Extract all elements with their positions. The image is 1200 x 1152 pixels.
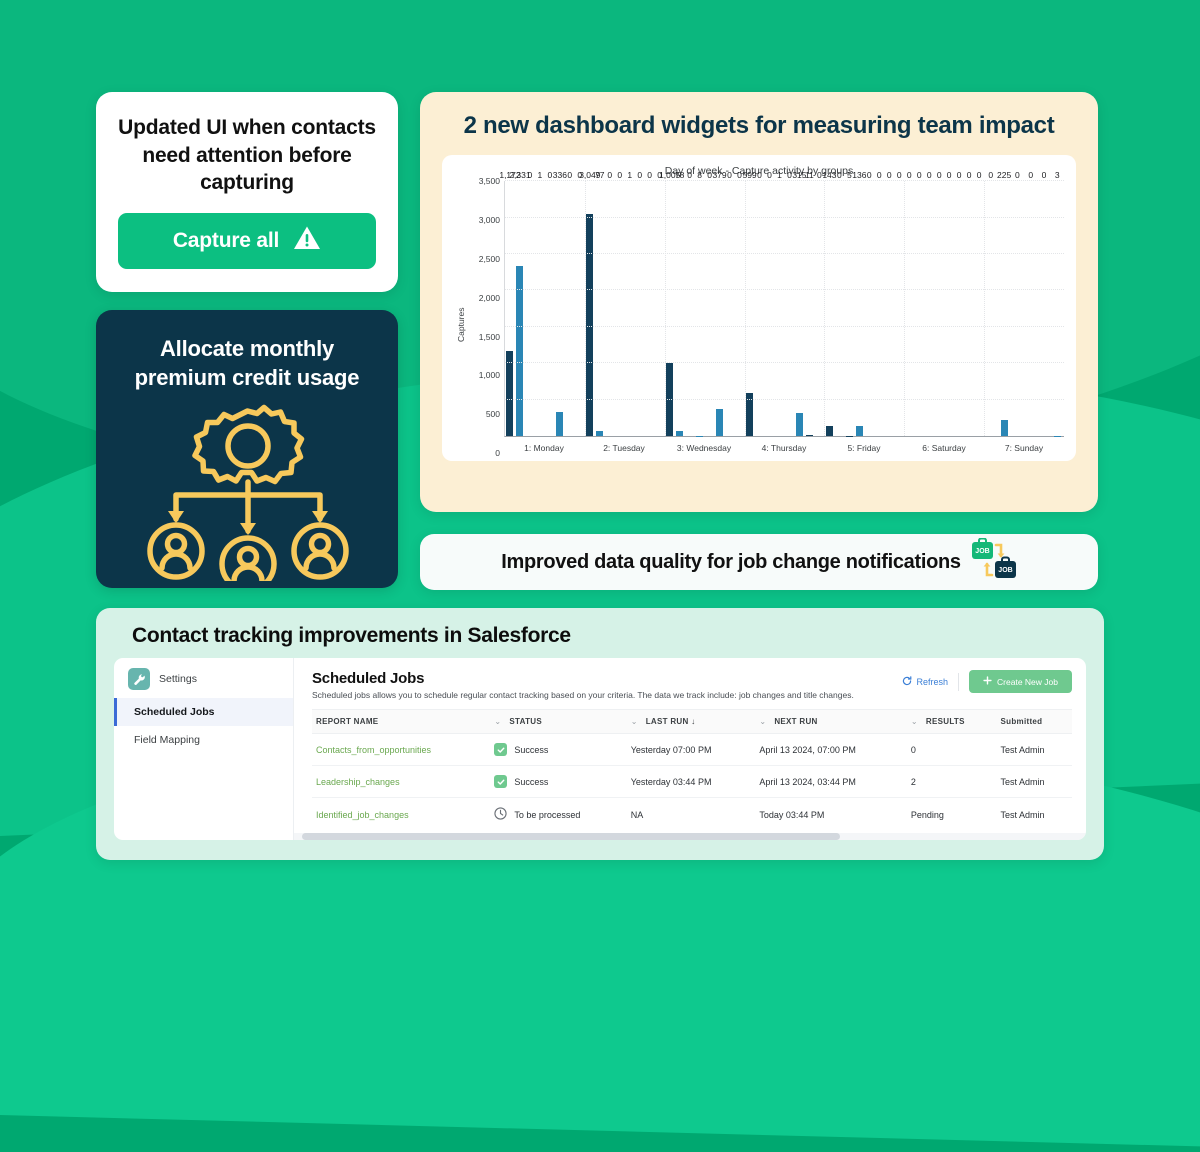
page-subtitle: Scheduled jobs allows you to schedule re… <box>312 690 902 700</box>
table-row[interactable]: Contacts_from_opportunitiesSuccessYester… <box>312 734 1072 766</box>
status-badge: Success <box>494 743 622 756</box>
status-badge: To be processed <box>494 807 622 822</box>
report-name-link[interactable]: Leadership_changes <box>316 777 400 787</box>
wrench-icon <box>128 668 150 690</box>
chart-bar-label: 0 <box>1028 170 1033 180</box>
chart-bar-label: 0 <box>528 170 533 180</box>
chart-gridline <box>505 180 1064 181</box>
chart-bar-label: 0 <box>817 170 822 180</box>
chart-bar-label: 0 <box>967 170 972 180</box>
sidebar-settings-label: Settings <box>159 673 197 685</box>
chart-bar-label: 3 <box>1055 170 1060 180</box>
chart-bar-label: 0 <box>567 170 572 180</box>
header-actions: Refresh Create New Job <box>902 670 1072 693</box>
chart-x-tick-label: 7: Sunday <box>984 443 1064 453</box>
chart-bar-label: 1 <box>538 170 543 180</box>
chart-bar-label: 0 <box>907 170 912 180</box>
chart-bar-label: 78 <box>675 170 684 180</box>
column-header-status[interactable]: ⌄STATUS <box>490 710 626 734</box>
check-square-icon <box>494 775 507 788</box>
chart-gridline <box>505 253 1064 254</box>
salesforce-main: Scheduled Jobs Scheduled jobs allows you… <box>294 658 1086 840</box>
chart-bar[interactable]: 336 <box>556 412 563 436</box>
cell-results: Pending <box>907 798 997 832</box>
chart-y-tick: 3,000 <box>479 215 500 225</box>
status-label: Success <box>514 777 548 787</box>
cell-results[interactable]: 2 <box>907 766 997 798</box>
chart-bar-label: 5 <box>847 170 852 180</box>
warning-triangle-icon <box>293 225 321 257</box>
chart-bar-label: 0 <box>887 170 892 180</box>
chart-bar-label: 599 <box>742 170 756 180</box>
cell-next-run: April 13 2024, 07:00 PM <box>755 734 907 766</box>
chart-bar-label: 11 <box>805 170 814 180</box>
chart-bar-label: 0 <box>867 170 872 180</box>
report-name-link[interactable]: Identified_job_changes <box>316 810 409 820</box>
chart-bar-label: 0 <box>1015 170 1020 180</box>
card-allocate-headline: Allocate monthly premium credit usage <box>114 334 380 393</box>
cell-status: Success <box>490 766 626 798</box>
chart-bar-label: 0 <box>617 170 622 180</box>
chart-bar-label: 77 <box>595 170 604 180</box>
chart-y-tick: 3,500 <box>479 176 500 186</box>
chart-bar[interactable]: 78 <box>676 431 683 437</box>
chart-bar-label: 0 <box>637 170 642 180</box>
cell-status: To be processed <box>490 798 626 832</box>
chart-gridline <box>505 399 1064 400</box>
chevron-down-icon: ⌄ <box>759 717 766 726</box>
chart-bar-label: 0 <box>687 170 692 180</box>
check-square-icon <box>494 743 507 756</box>
status-label: Success <box>514 745 548 755</box>
column-header-submitted: Submitted <box>997 710 1072 734</box>
chart-y-tick: 500 <box>486 409 500 419</box>
chart-bar-label: 0 <box>607 170 612 180</box>
chart-bar-label: 143 <box>822 170 836 180</box>
sidebar-settings-header: Settings <box>114 668 293 698</box>
chart-bar[interactable]: 379 <box>716 409 723 437</box>
card-allocate-credits: Allocate monthly premium credit usage <box>96 310 398 588</box>
chart-bar-label: 0 <box>737 170 742 180</box>
chart-x-tick-label: 1: Monday <box>504 443 584 453</box>
table-body: Contacts_from_opportunitiesSuccessYester… <box>312 734 1072 832</box>
card-job-change-banner: Improved data quality for job change not… <box>420 534 1098 590</box>
column-header-results[interactable]: ⌄RESULTS <box>907 710 997 734</box>
create-new-job-label: Create New Job <box>997 677 1058 687</box>
chart-y-tick: 1,500 <box>479 332 500 342</box>
cell-status: Success <box>490 734 626 766</box>
sidebar-nav: Scheduled JobsField Mapping <box>114 698 293 754</box>
cell-last-run: Yesterday 07:00 PM <box>627 734 756 766</box>
cell-report-name: Contacts_from_opportunities <box>312 734 490 766</box>
header-divider <box>958 673 959 691</box>
card-dashboard-widgets-headline: 2 new dashboard widgets for measuring te… <box>442 110 1076 141</box>
sidebar-item-scheduled-jobs[interactable]: Scheduled Jobs <box>114 698 293 726</box>
chart-x-tick-label: 4: Thursday <box>744 443 824 453</box>
card-salesforce-title: Contact tracking improvements in Salesfo… <box>132 624 1086 648</box>
chart-x-tick-label: 6: Saturday <box>904 443 984 453</box>
chart-bar-label: 0 <box>897 170 902 180</box>
salesforce-sidebar: Settings Scheduled JobsField Mapping <box>114 658 294 840</box>
chart-gridline <box>505 326 1064 327</box>
chart-bar-label: 0 <box>937 170 942 180</box>
capture-activity-chart: Day of week - Capture activity by groups… <box>442 155 1076 461</box>
chart-bar[interactable]: 2,331 <box>516 266 523 436</box>
chart-bar[interactable]: 8 <box>696 436 703 437</box>
chart-y-tick: 2,000 <box>479 293 500 303</box>
status-label: To be processed <box>514 810 580 820</box>
sidebar-item-field-mapping[interactable]: Field Mapping <box>114 726 293 754</box>
cell-last-run: NA <box>627 798 756 832</box>
status-badge: Success <box>494 775 622 788</box>
cell-submitted: Test Admin <box>997 734 1072 766</box>
chart-gridline <box>505 289 1064 290</box>
chart-plot-area: 1,1722,331010336003,049770010001,0057808… <box>504 181 1064 453</box>
table-row[interactable]: Leadership_changesSuccessYesterday 03:44… <box>312 766 1072 798</box>
chart-bar-label: 0 <box>727 170 732 180</box>
chart-bar[interactable]: 225 <box>1001 420 1008 436</box>
cell-submitted: Test Admin <box>997 766 1072 798</box>
card-updated-ui-headline: Updated UI when contacts need attention … <box>116 114 378 197</box>
chart-y-axis-label: Captures <box>454 181 468 453</box>
scheduled-jobs-header-text: Scheduled Jobs Scheduled jobs allows you… <box>312 670 902 700</box>
chevron-down-icon: ⌄ <box>631 717 638 726</box>
svg-text:JOB: JOB <box>975 548 989 555</box>
chevron-down-icon: ⌄ <box>911 717 918 726</box>
chart-bar-label: 0 <box>927 170 932 180</box>
chart-bar-label: 0 <box>1042 170 1047 180</box>
card-salesforce: Contact tracking improvements in Salesfo… <box>96 608 1104 860</box>
report-name-link[interactable]: Contacts_from_opportunities <box>316 745 431 755</box>
chart-body: Captures 05001,0001,5002,0002,5003,0003,… <box>454 181 1064 453</box>
table-row[interactable]: Identified_job_changesTo be processedNAT… <box>312 798 1072 832</box>
salesforce-app-window: Settings Scheduled JobsField Mapping Sch… <box>114 658 1086 840</box>
chart-bar-label: 8 <box>697 170 702 180</box>
chart-bar-label: 0 <box>757 170 762 180</box>
column-header-next-run[interactable]: ⌄NEXT RUN <box>755 710 907 734</box>
plus-icon <box>983 676 992 687</box>
stage: Updated UI when contacts need attention … <box>0 0 1200 960</box>
svg-text:JOB: JOB <box>998 567 1012 574</box>
chart-bar-label: 1 <box>627 170 632 180</box>
scrollbar-thumb[interactable] <box>302 833 841 840</box>
cell-results: 0 <box>907 734 997 766</box>
chart-x-tick-label: 2: Tuesday <box>584 443 664 453</box>
horizontal-scrollbar[interactable] <box>294 833 1086 840</box>
table-head: REPORT NAME⌄STATUS⌄LAST RUN ↓⌄NEXT RUN⌄R… <box>312 710 1072 734</box>
chart-y-tick: 2,500 <box>479 254 500 264</box>
refresh-label: Refresh <box>917 677 949 687</box>
chart-bar[interactable]: 11 <box>806 435 813 436</box>
chart-gridline <box>505 362 1064 363</box>
create-new-job-button[interactable]: Create New Job <box>969 670 1072 693</box>
chart-x-tick-label: 5: Friday <box>824 443 904 453</box>
cell-submitted: Test Admin <box>997 798 1072 832</box>
chart-gridline <box>505 217 1064 218</box>
chart-bar-label: 336 <box>553 170 567 180</box>
cell-last-run: Yesterday 03:44 PM <box>627 766 756 798</box>
chart-x-tick-label: 3: Wednesday <box>664 443 744 453</box>
refresh-icon <box>902 676 912 688</box>
chart-x-tick-labels: 1: Monday2: Tuesday3: Wednesday4: Thursd… <box>504 443 1064 453</box>
gear-distributes-to-people-icon <box>140 403 355 586</box>
chart-bar-label: 0 <box>767 170 772 180</box>
capture-all-button[interactable]: Capture all <box>118 213 376 269</box>
cell-report-name: Identified_job_changes <box>312 798 490 832</box>
chart-bar[interactable]: 143 <box>826 426 833 436</box>
column-header-report-name: REPORT NAME <box>312 710 490 734</box>
chart-bar[interactable]: 1,172 <box>506 351 513 436</box>
cell-next-run: Today 03:44 PM <box>755 798 907 832</box>
clock-icon <box>494 807 507 822</box>
refresh-button[interactable]: Refresh <box>902 676 949 688</box>
chart-bar-label: 0 <box>837 170 842 180</box>
chart-bar-label: 0 <box>988 170 993 180</box>
chart-bar-label: 0 <box>877 170 882 180</box>
card-dashboard-widgets: 2 new dashboard widgets for measuring te… <box>420 92 1098 512</box>
chart-y-ticks: 05001,0001,5002,0002,5003,0003,500 <box>468 181 504 453</box>
chart-bar[interactable]: 77 <box>596 431 603 437</box>
cell-report-name: Leadership_changes <box>312 766 490 798</box>
chart-bar-label: 0 <box>957 170 962 180</box>
chart-bar-label: 0 <box>787 170 792 180</box>
chart-y-tick: 1,000 <box>479 370 500 380</box>
scheduled-jobs-header: Scheduled Jobs Scheduled jobs allows you… <box>312 670 1072 700</box>
chart-bar-label: 136 <box>852 170 866 180</box>
chart-bar-label: 0 <box>977 170 982 180</box>
chart-bar-label: 0 <box>707 170 712 180</box>
chart-bar[interactable]: 136 <box>856 426 863 436</box>
scheduled-jobs-table: REPORT NAME⌄STATUS⌄LAST RUN ↓⌄NEXT RUN⌄R… <box>312 709 1072 831</box>
card-job-change-headline: Improved data quality for job change not… <box>501 551 961 574</box>
chart-y-tick: 0 <box>495 448 500 458</box>
column-header-last-run[interactable]: ⌄LAST RUN ↓ <box>627 710 756 734</box>
chart-bar-label: 0 <box>947 170 952 180</box>
page-title: Scheduled Jobs <box>312 670 902 687</box>
job-briefcase-swap-icon: JOB JOB <box>971 538 1017 587</box>
chart-bar-label: 379 <box>712 170 726 180</box>
card-updated-ui: Updated UI when contacts need attention … <box>96 92 398 292</box>
cell-next-run: April 13 2024, 03:44 PM <box>755 766 907 798</box>
chart-bar-label: 0 <box>547 170 552 180</box>
chart-bar-label: 225 <box>997 170 1011 180</box>
chart-bar-label: 0 <box>917 170 922 180</box>
capture-all-label: Capture all <box>173 229 279 253</box>
chart-plot: 1,1722,331010336003,049770010001,0057808… <box>504 181 1064 437</box>
chevron-down-icon: ⌄ <box>494 717 501 726</box>
chart-bar-label: 1 <box>777 170 782 180</box>
chart-bar-label: 0 <box>647 170 652 180</box>
table-header-row: REPORT NAME⌄STATUS⌄LAST RUN ↓⌄NEXT RUN⌄R… <box>312 710 1072 734</box>
chart-bar[interactable]: 315 <box>796 413 803 436</box>
